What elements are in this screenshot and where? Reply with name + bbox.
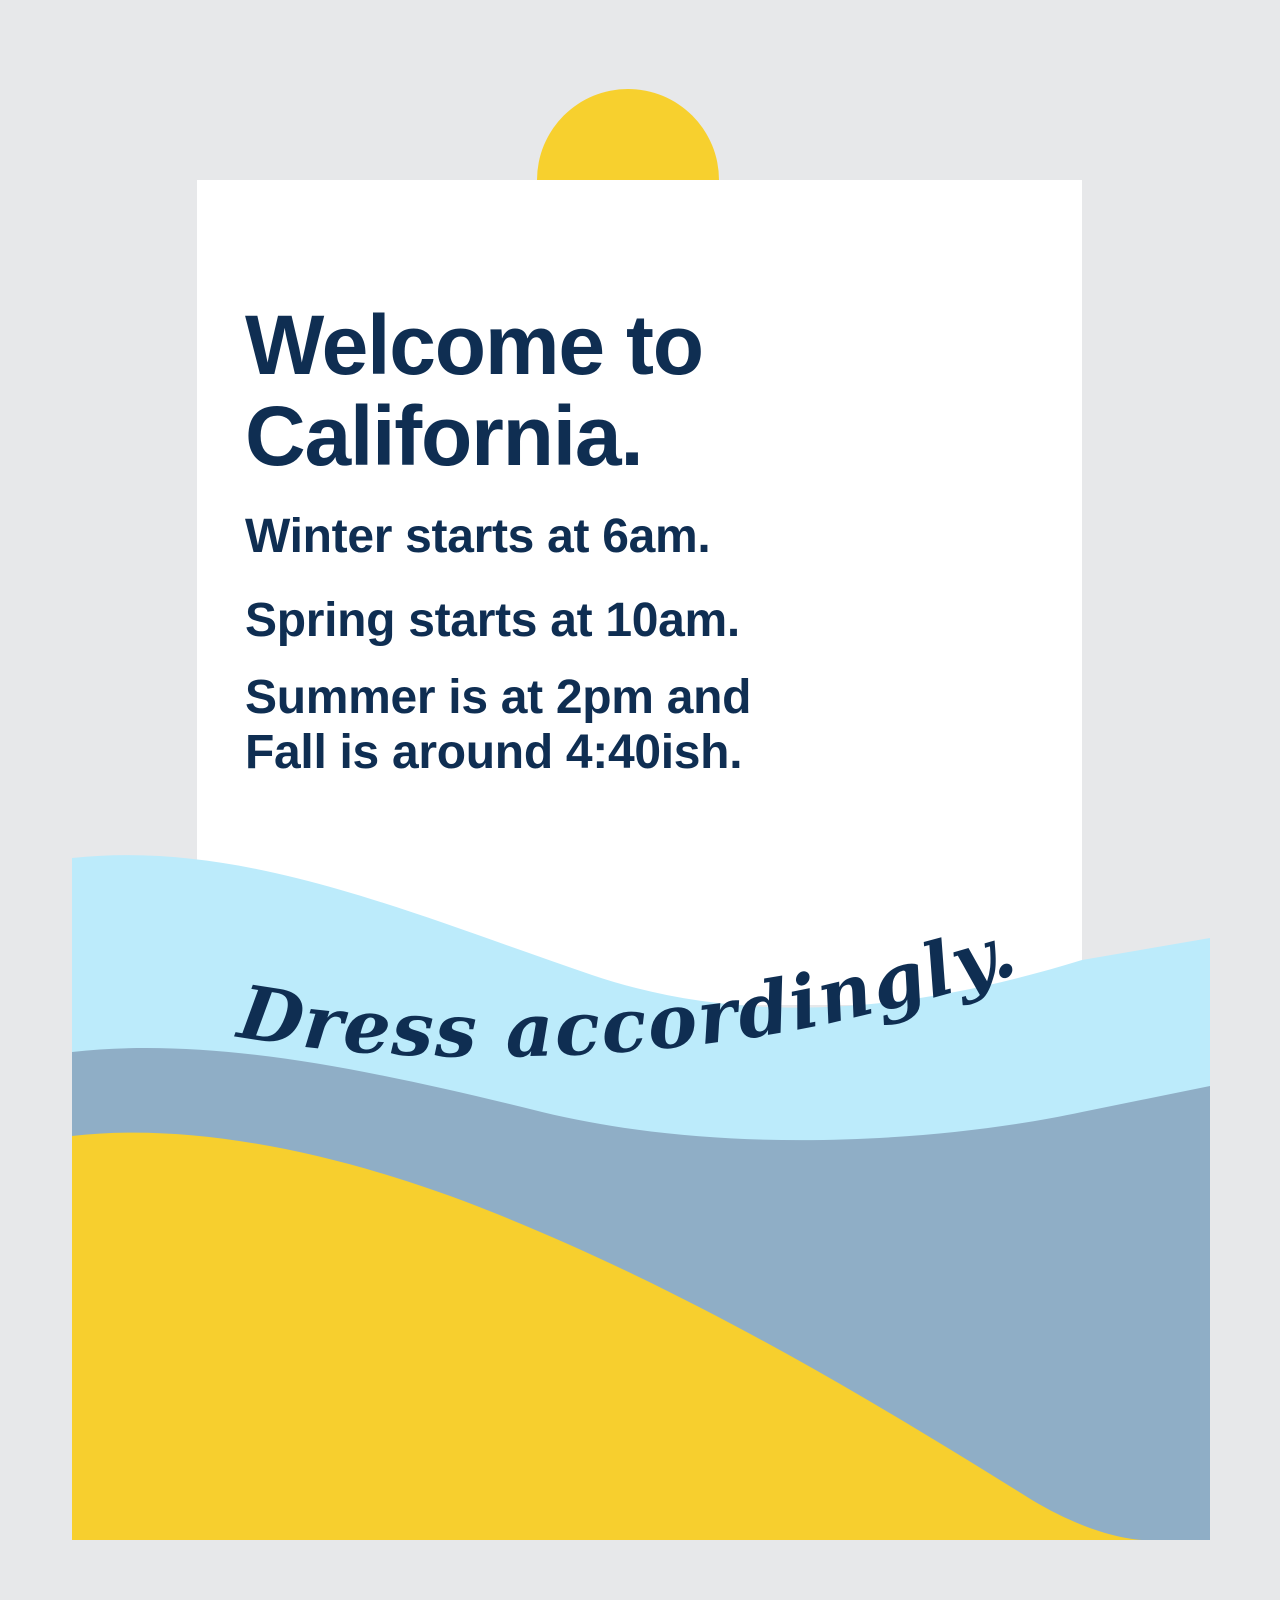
poster-canvas: Welcome to California. Winter starts at … bbox=[0, 0, 1280, 1600]
page-title: Welcome to California. bbox=[245, 300, 1035, 481]
list-item-summer-fall: Summer is at 2pm and Fall is around 4:40… bbox=[245, 670, 1035, 780]
text-content: Welcome to California. Winter starts at … bbox=[245, 300, 1035, 780]
list-item-spring: Spring starts at 10am. bbox=[245, 593, 1035, 648]
season-list: Winter starts at 6am. Spring starts at 1… bbox=[245, 509, 1035, 780]
signature-script: Dress accordingly. bbox=[232, 962, 1032, 1082]
list-item-winter: Winter starts at 6am. bbox=[245, 509, 1035, 564]
landscape-illustration bbox=[72, 840, 1210, 1540]
